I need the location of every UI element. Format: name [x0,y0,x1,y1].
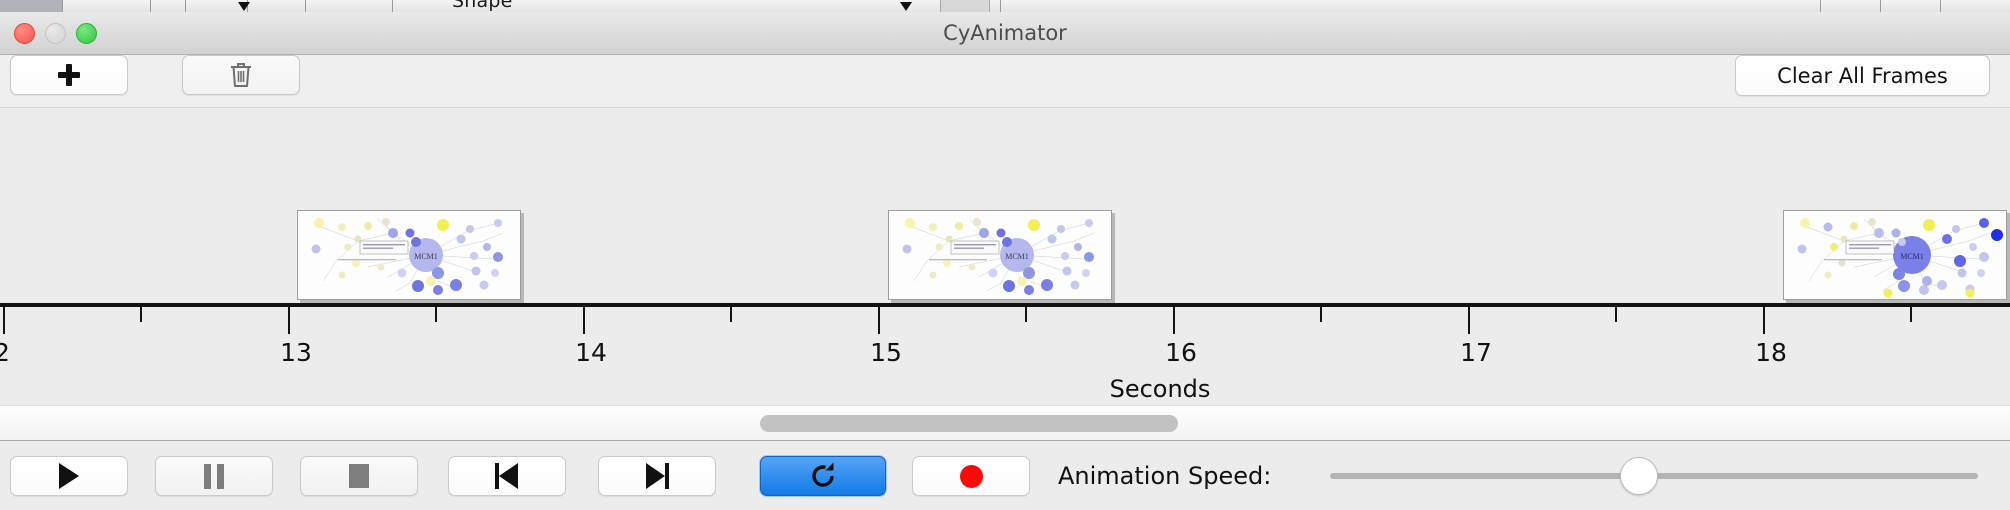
loop-icon [808,461,838,491]
ruler-major-tick [878,307,880,334]
pause-button[interactable] [155,456,273,496]
timeline-horizontal-scrollbar[interactable] [0,405,2010,441]
title-bar: CyAnimator [0,12,2010,55]
ruler-minor-tick [1615,307,1617,322]
network-graph-icon: MCM1 [298,211,520,299]
svg-text:MCM1: MCM1 [1900,252,1924,261]
ruler-major-tick [288,307,290,334]
frames-lane[interactable]: MCM1 [0,108,2010,305]
ruler-axis-line [0,303,2010,307]
delete-frame-button[interactable] [182,55,300,95]
ruler-minor-tick [1320,307,1322,322]
record-icon [960,465,983,488]
stop-button[interactable] [300,456,418,496]
slider-thumb[interactable] [1620,457,1658,495]
ruler-axis-title-text: Seconds [1110,375,1211,403]
frame-thumbnail[interactable]: MCM1 [297,210,521,300]
ruler-tick-label: 2 [0,338,10,367]
ruler-major-tick [1468,307,1470,334]
ruler-minor-tick [730,307,732,322]
trash-icon [228,61,254,89]
next-frame-button[interactable] [598,456,716,496]
skip-next-icon [645,463,669,489]
pause-icon [204,464,224,489]
animation-speed-label: Animation Speed: [1058,456,1271,496]
ruler-major-tick [1763,307,1765,334]
ruler-tick-label: 15 [870,338,902,367]
previous-frame-button[interactable] [448,456,566,496]
frame-thumbnail[interactable]: MCM1 [888,210,1112,300]
svg-text:MCM1: MCM1 [414,252,438,261]
ruler-tick-label: 17 [1460,338,1492,367]
background-app-shape-label: Shape [452,0,513,12]
ruler-major-tick [583,307,585,334]
network-graph-icon: MCM1 [889,211,1111,299]
animation-speed-slider[interactable] [1330,472,1978,480]
frame-toolbar [0,55,2010,108]
ruler-tick-label: 14 [575,338,607,367]
add-frame-button[interactable] [10,55,128,95]
ruler-tick-label: 13 [280,338,312,367]
timeline-ruler[interactable]: 2 13 14 15 16 17 18 Seconds [0,303,2010,406]
svg-text:MCM1: MCM1 [1005,252,1029,261]
ruler-major-tick [1173,307,1175,334]
skip-previous-icon [495,463,519,489]
frame-thumbnail[interactable]: MCM1 [1783,210,2007,300]
record-button[interactable] [912,456,1030,496]
ruler-minor-tick [1910,307,1912,322]
ruler-tick-label: 18 [1755,338,1787,367]
cyanimator-window: Shape CyAnimator Clear All Frames [0,0,2010,510]
ruler-minor-tick [140,307,142,322]
ruler-minor-tick [435,307,437,322]
stop-icon [349,464,369,488]
loop-button[interactable] [760,456,886,496]
ruler-axis-title: Seconds [0,375,2010,403]
ruler-tick-label: 16 [1165,338,1197,367]
play-icon [59,463,79,489]
timeline-panel[interactable]: MCM1 [0,107,2010,406]
ruler-minor-tick [1025,307,1027,322]
playback-toolbar: Animation Speed: [0,442,2010,510]
ruler-major-tick [3,307,5,334]
window-title: CyAnimator [0,12,2010,55]
network-graph-icon: MCM1 [1784,211,2006,299]
play-button[interactable] [10,456,128,496]
clear-all-frames-button[interactable]: Clear All Frames [1735,55,1990,96]
plus-icon [57,63,81,87]
scrollbar-thumb[interactable] [760,415,1178,432]
